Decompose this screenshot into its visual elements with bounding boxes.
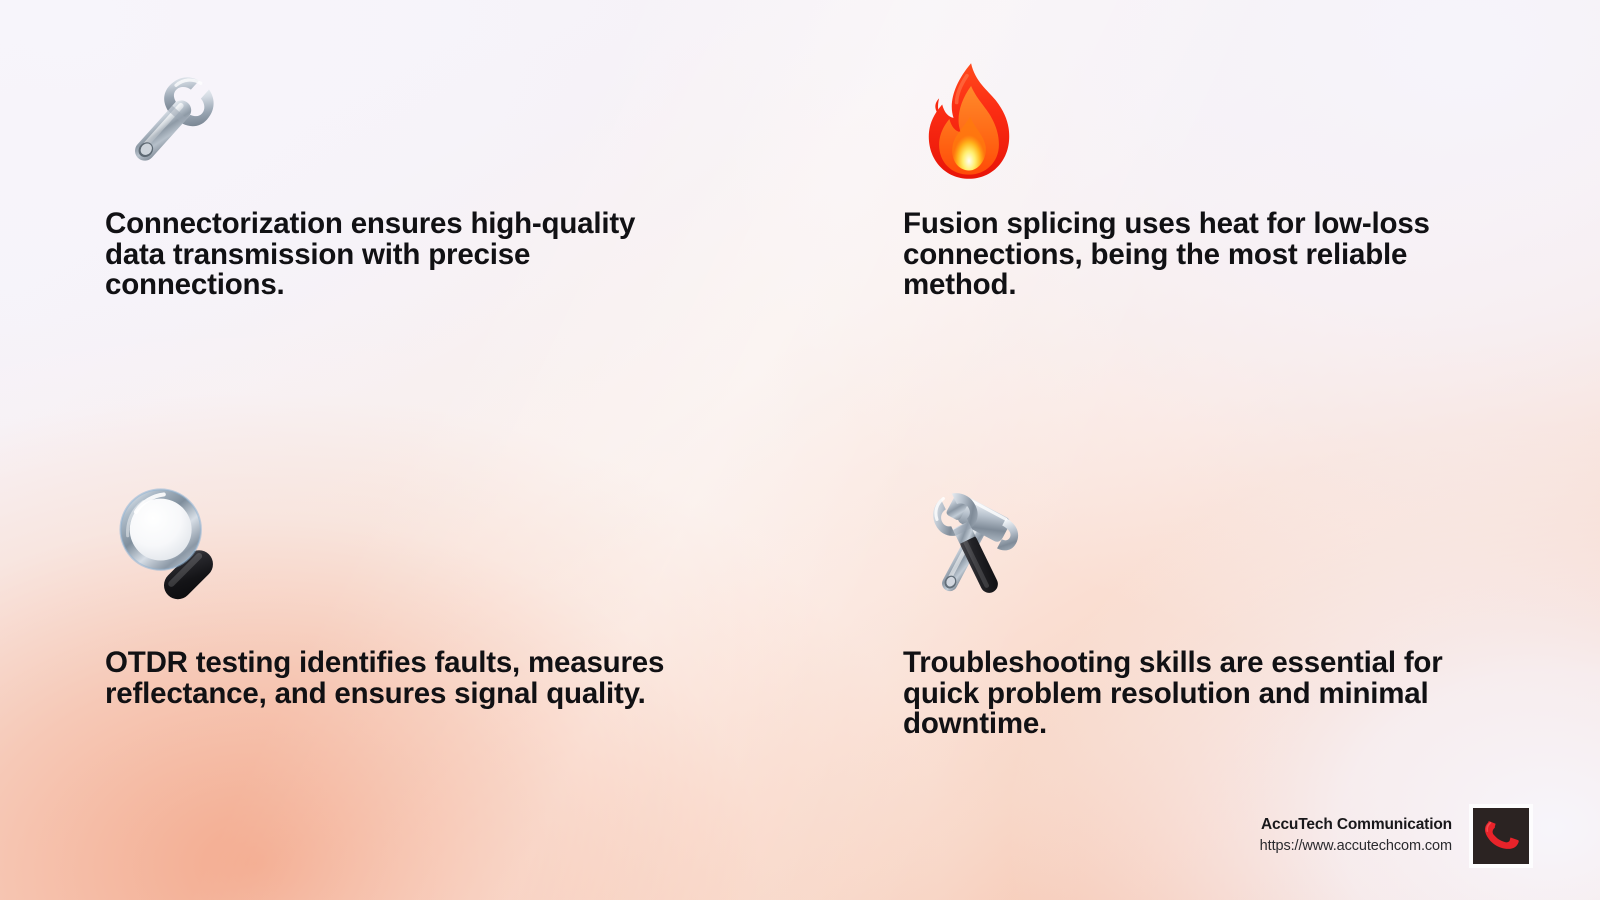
brand-name: AccuTech Communication <box>1260 815 1452 835</box>
card-troubleshooting: Troubleshooting skills are essential for… <box>903 478 1503 740</box>
branding: AccuTech Communication https://www.accut… <box>1260 804 1533 868</box>
infographic-canvas: Connectorization ensures high-quality da… <box>0 0 1600 900</box>
card-grid: Connectorization ensures high-quality da… <box>0 0 1600 900</box>
brand-text-block: AccuTech Communication https://www.accut… <box>1260 815 1452 857</box>
card-text-connectorization: Connectorization ensures high-quality da… <box>105 209 670 301</box>
brand-logo[interactable] <box>1469 804 1533 868</box>
card-text-otdr-testing: OTDR testing identifies faults, measures… <box>105 648 670 709</box>
telephone-receiver-icon <box>1479 814 1523 858</box>
fire-icon <box>903 55 1035 187</box>
card-otdr-testing: OTDR testing identifies faults, measures… <box>105 478 705 709</box>
card-text-fusion-splicing: Fusion splicing uses heat for low-loss c… <box>903 209 1468 301</box>
hammer-and-wrench-icon <box>903 478 1035 610</box>
wrench-icon <box>105 55 237 187</box>
card-connectorization: Connectorization ensures high-quality da… <box>105 55 705 301</box>
magnifying-glass-icon <box>105 478 237 610</box>
card-text-troubleshooting: Troubleshooting skills are essential for… <box>903 648 1468 740</box>
brand-url[interactable]: https://www.accutechcom.com <box>1260 835 1452 857</box>
card-fusion-splicing: Fusion splicing uses heat for low-loss c… <box>903 55 1503 301</box>
